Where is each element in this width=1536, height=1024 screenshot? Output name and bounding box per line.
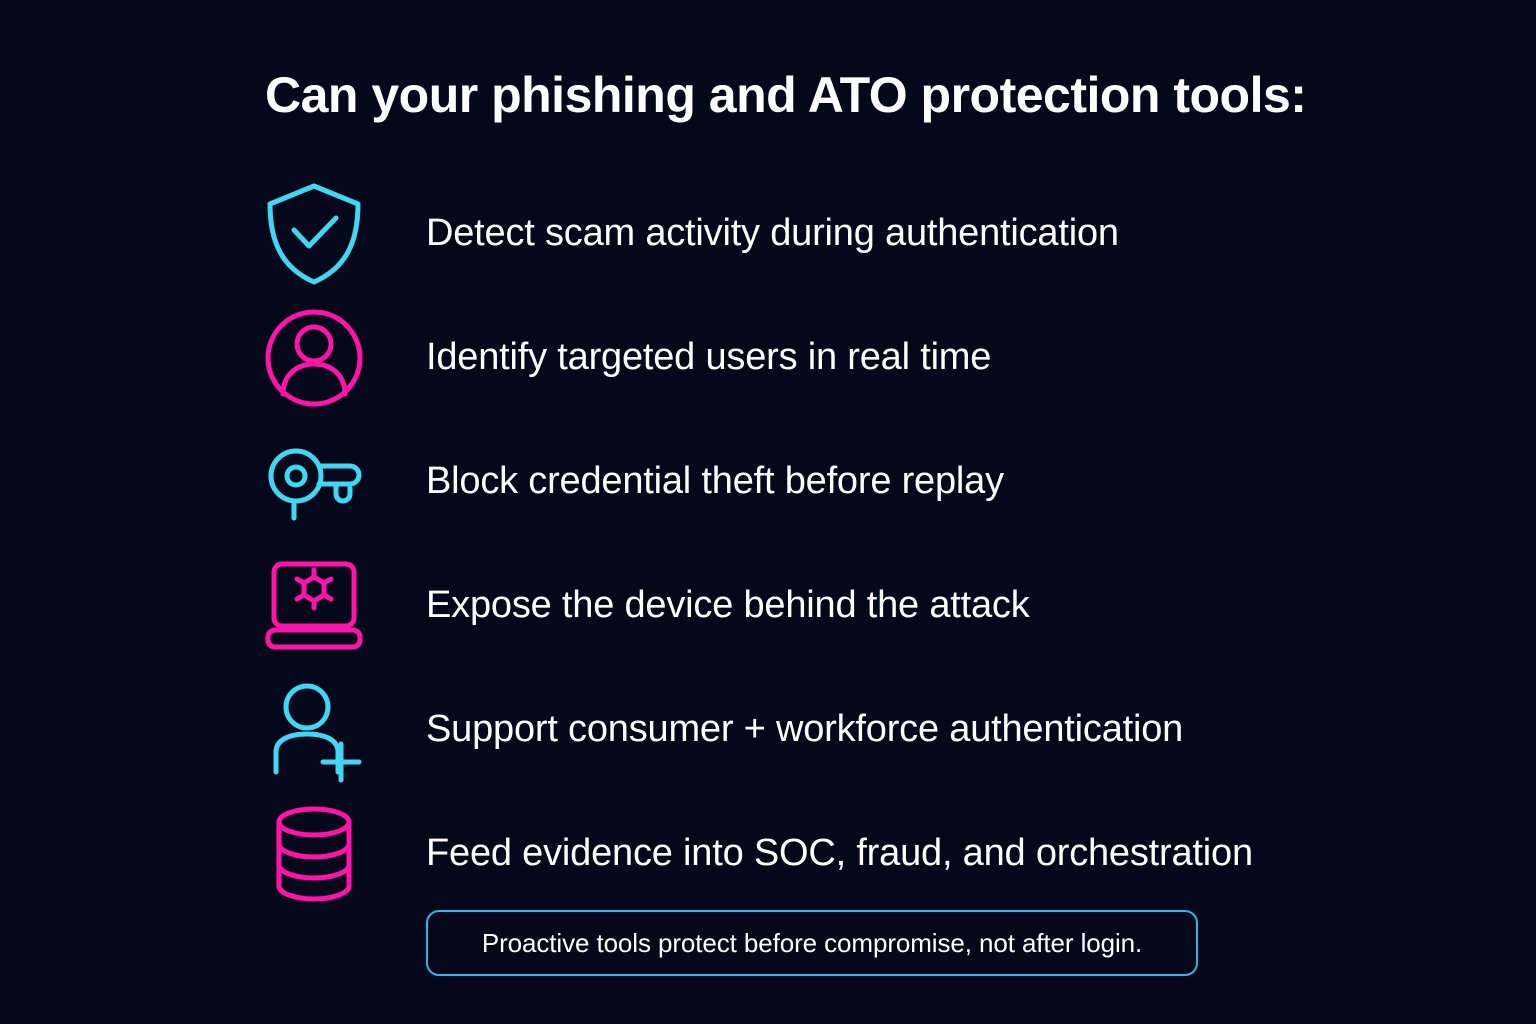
list-item-label: Block credential theft before replay [426,460,1004,504]
list-item-label: Identify targeted users in real time [426,336,991,380]
list-item: Expose the device behind the attack [258,544,1458,668]
list-item: Feed evidence into SOC, fraud, and orche… [258,792,1458,916]
key-icon [258,420,426,544]
callout-text: Proactive tools protect before compromis… [482,928,1142,959]
user-circle-icon [258,296,426,420]
list-item: Block credential theft before replay [258,420,1458,544]
checklist: Detect scam activity during authenticati… [258,172,1458,916]
list-item: Support consumer + workforce authenticat… [258,668,1458,792]
page-title: Can your phishing and ATO protection too… [265,68,1385,123]
list-item-label: Feed evidence into SOC, fraud, and orche… [426,832,1253,876]
infographic-canvas: Can your phishing and ATO protection too… [0,0,1536,1024]
list-item-label: Expose the device behind the attack [426,584,1030,628]
list-item: Identify targeted users in real time [258,296,1458,420]
shield-check-icon [258,172,426,296]
database-icon [258,792,426,916]
callout-box: Proactive tools protect before compromis… [426,910,1198,976]
list-item: Detect scam activity during authenticati… [258,172,1458,296]
list-item-label: Detect scam activity during authenticati… [426,212,1119,256]
user-plus-icon [258,668,426,792]
laptop-malware-icon [258,544,426,668]
list-item-label: Support consumer + workforce authenticat… [426,708,1183,752]
